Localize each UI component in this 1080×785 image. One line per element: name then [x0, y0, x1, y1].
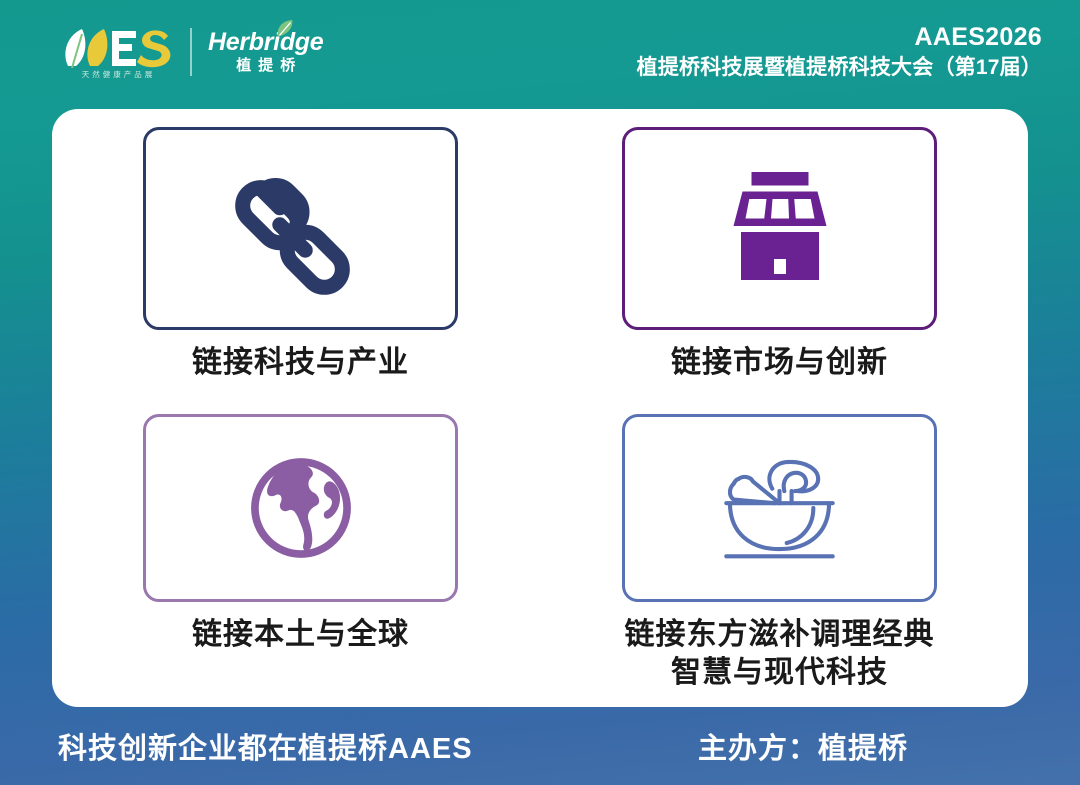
aes-logo: 天然健康产品展	[58, 26, 176, 79]
footer-organizer: 主办方：植提桥	[698, 725, 908, 767]
herbridge-logo: Herbridge 植提桥	[208, 29, 323, 75]
poster-root: 天然健康产品展 Herbridge 植提桥 AAES2026 植提桥科技展暨植提…	[0, 0, 1080, 785]
footer-slogan: 科技创新企业都在植提桥AAES	[58, 725, 473, 767]
event-name: 植提桥科技展暨植提桥科技大会（第17届）	[637, 54, 1042, 81]
aes-logo-mark	[58, 26, 176, 70]
globe-icon	[237, 444, 365, 572]
card-item-4: 链接东方滋补调理经典 智慧与现代科技	[575, 406, 984, 693]
icon-card-2[interactable]	[622, 127, 937, 330]
mortar-pestle-icon	[707, 444, 852, 572]
icon-card-3[interactable]	[143, 414, 458, 602]
card-label-2: 链接市场与创新	[671, 344, 888, 382]
card-item-3: 链接本土与全球	[96, 406, 505, 693]
event-code: AAES2026	[637, 23, 1042, 52]
herbridge-name-en: Herbridge	[208, 29, 323, 55]
card-label-1: 链接科技与产业	[192, 344, 409, 382]
card-label-4: 链接东方滋补调理经典 智慧与现代科技	[625, 616, 935, 693]
icon-card-4[interactable]	[622, 414, 937, 602]
chain-link-icon	[226, 154, 376, 304]
storefront-icon	[705, 154, 855, 304]
card-item-1: 链接科技与产业	[96, 119, 505, 406]
card-item-2: 链接市场与创新	[575, 119, 984, 406]
card-label-3: 链接本土与全球	[192, 616, 409, 654]
leaf-icon	[274, 18, 296, 40]
herbridge-name-en-text: Herbridge	[208, 28, 323, 56]
header: 天然健康产品展 Herbridge 植提桥 AAES2026 植提桥科技展暨植提…	[0, 0, 1080, 104]
brand-lockup: 天然健康产品展 Herbridge 植提桥	[58, 21, 323, 83]
brand-divider	[190, 28, 192, 76]
icon-card-1[interactable]	[143, 127, 458, 330]
content-panel: 链接科技与产业	[52, 109, 1028, 707]
card-grid: 链接科技与产业	[96, 119, 984, 693]
footer: 科技创新企业都在植提桥AAES 主办方：植提桥	[0, 707, 1080, 785]
event-title-block: AAES2026 植提桥科技展暨植提桥科技大会（第17届）	[637, 23, 1050, 81]
herbridge-name-cn: 植提桥	[229, 58, 302, 75]
aes-logo-subtitle: 天然健康产品展	[79, 71, 156, 79]
